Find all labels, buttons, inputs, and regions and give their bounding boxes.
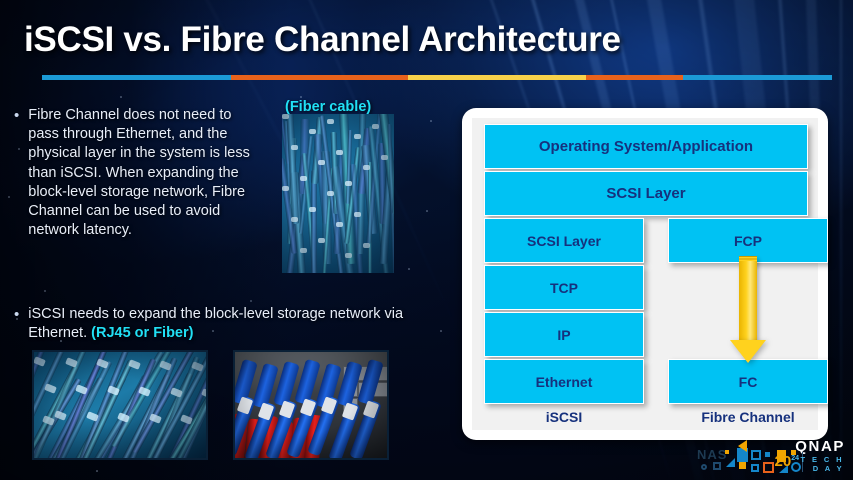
slide-title: iSCSI vs. Fibre Channel Architecture: [24, 20, 621, 60]
diagram-row-iscsi-3[interactable]: Ethernet: [484, 359, 644, 404]
layer-label: Ethernet: [536, 374, 593, 390]
background-speck: [300, 96, 302, 98]
logo-year-main: 20: [775, 453, 792, 470]
photo-vignette: [282, 114, 394, 273]
bullet-text: Fibre Channel does not need to pass thro…: [28, 106, 266, 240]
logo-mark-3: [739, 462, 746, 469]
divider-segment-4: [683, 75, 832, 80]
photo-vignette: [235, 352, 387, 458]
ethernet-blue-photo: [32, 350, 208, 460]
background-speck: [44, 290, 46, 292]
background-speck: [120, 96, 122, 98]
divider-segment-1: [231, 75, 408, 80]
layer-label: Operating System/Application: [539, 138, 753, 155]
logo-mark-7: [751, 464, 759, 472]
logo-tech-text: T E C H: [801, 455, 844, 464]
layer-label: SCSI Layer: [606, 185, 685, 202]
logo-mark-9: [763, 462, 774, 473]
divider-segment-2: [408, 75, 585, 80]
bullet-marker: •: [14, 305, 19, 324]
layer-label: FC: [739, 374, 758, 390]
logo-mark-1: [713, 462, 721, 470]
bullet-text-highlight: (RJ45 or Fiber): [91, 325, 193, 341]
layer-label: TCP: [550, 280, 578, 296]
diagram-row-fc[interactable]: FC: [668, 359, 828, 404]
stack-label-fibre-channel: Fibre Channel: [668, 409, 828, 425]
logo-mark-6: [751, 450, 761, 460]
logo-mark-0: [701, 464, 707, 470]
logo-year-suffix: 24: [791, 455, 799, 462]
layer-label: IP: [557, 327, 570, 343]
background-speck: [426, 210, 428, 212]
fiber-cable-photo: [282, 114, 394, 273]
stack-label-iscsi: iSCSI: [484, 409, 644, 425]
logo-mark-4: [725, 450, 729, 454]
diagram-canvas: Operating System/ApplicationSCSI LayerSC…: [472, 118, 818, 430]
ethernet-red-photo: [233, 350, 389, 460]
background-speck: [440, 330, 442, 332]
bullet-text-main: iSCSI needs to expand the block-level st…: [28, 306, 403, 341]
background-speck: [96, 470, 98, 472]
logo-mark-8: [765, 452, 770, 457]
bullet-item-2: • iSCSI needs to expand the block-level …: [14, 305, 414, 343]
architecture-diagram-panel: Operating System/ApplicationSCSI LayerSC…: [462, 108, 828, 440]
layer-label: FCP: [734, 233, 762, 249]
flow-arrow-ridge: [739, 256, 757, 261]
divider-segment-3: [586, 75, 683, 80]
background-speck: [250, 300, 252, 302]
logo-watermark-text: NAS: [697, 447, 727, 462]
logo-day-text: D A Y: [813, 464, 844, 473]
diagram-row-shared-1[interactable]: SCSI Layer: [484, 171, 808, 216]
bullet-marker: •: [14, 106, 19, 125]
bullet-item-1: • Fibre Channel does not need to pass th…: [14, 106, 266, 240]
background-speck: [408, 268, 410, 270]
photo-vignette: [34, 352, 206, 458]
flow-arrow-head: [730, 340, 766, 363]
title-divider-bar: [42, 75, 832, 80]
diagram-row-iscsi-0[interactable]: SCSI Layer: [484, 218, 644, 263]
divider-segment-0: [42, 75, 231, 80]
logo-year: 2024: [775, 453, 799, 470]
slide-root: iSCSI vs. Fibre Channel Architecture • F…: [0, 0, 853, 480]
flow-arrow-shaft: [739, 257, 757, 341]
background-speck: [8, 196, 10, 198]
background-speck: [430, 120, 432, 122]
logo-triangle-icon: [738, 440, 747, 452]
fiber-cable-caption: (Fiber cable): [285, 99, 371, 115]
diagram-row-iscsi-2[interactable]: IP: [484, 312, 644, 357]
diagram-row-shared-0[interactable]: Operating System/Application: [484, 124, 808, 169]
diagram-row-iscsi-1[interactable]: TCP: [484, 265, 644, 310]
layer-label: SCSI Layer: [527, 233, 601, 249]
bullet-text: iSCSI needs to expand the block-level st…: [28, 305, 414, 343]
qnap-tech-day-logo: NAS QNAP 2024 T E C H D A Y: [695, 438, 847, 474]
